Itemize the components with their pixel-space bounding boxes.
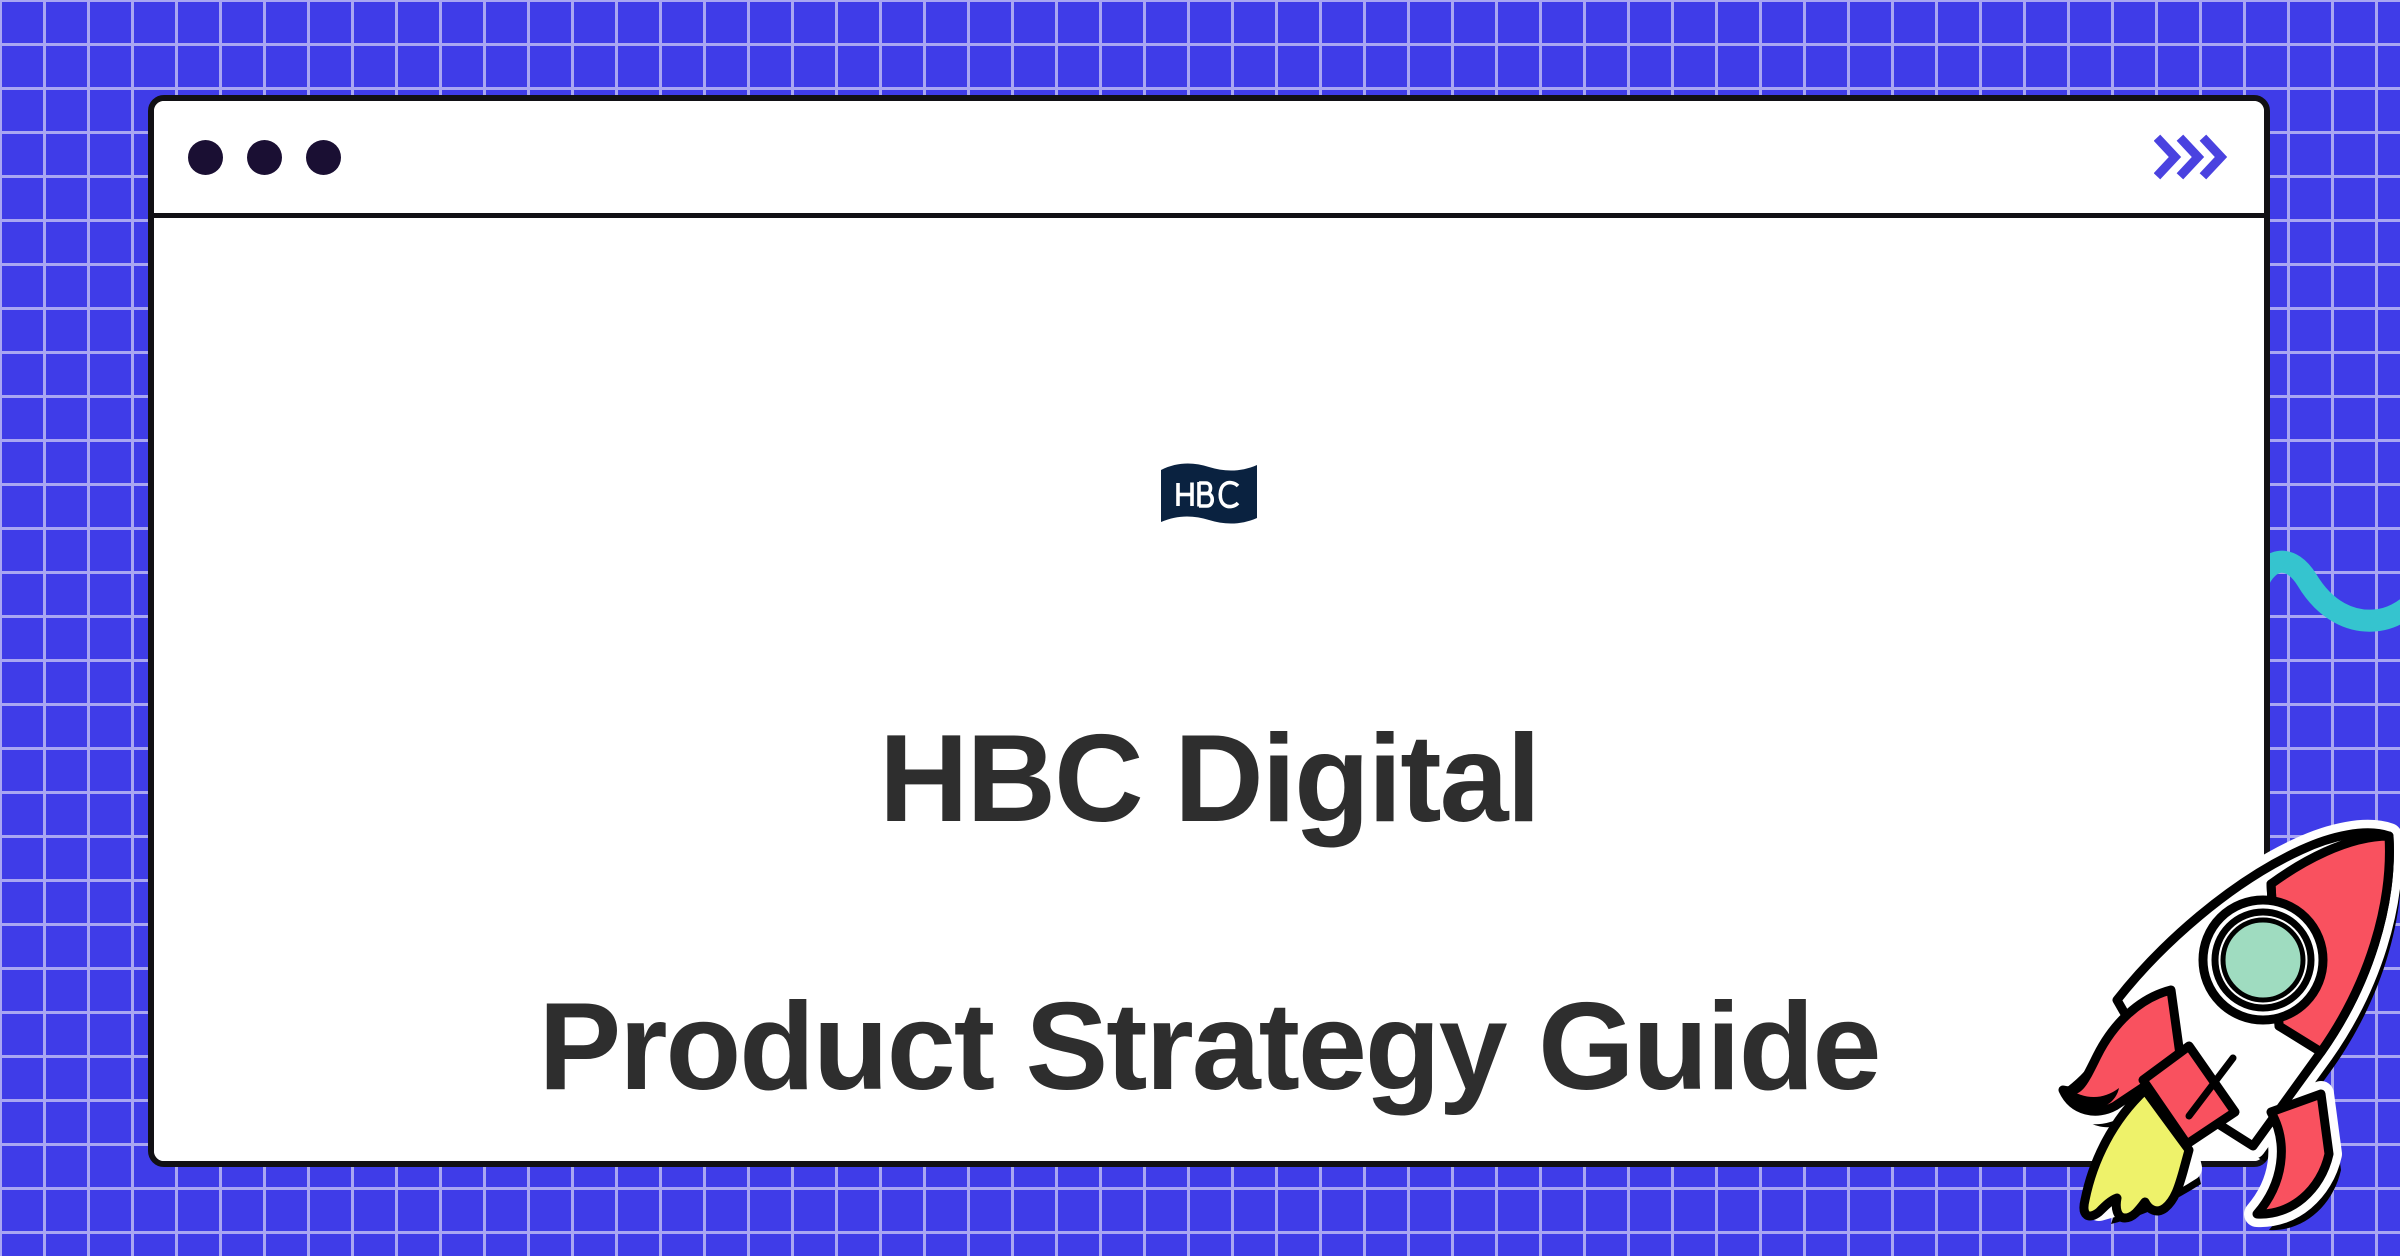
chevrons-right-icon[interactable] [2154, 134, 2230, 180]
page-title-line-1: HBC Digital [154, 713, 2264, 847]
page-title-line-2: Product Strategy Guide [154, 981, 2264, 1115]
page-title: HBC Digital Product Strategy Guide [154, 579, 2264, 1167]
window-controls[interactable] [188, 140, 341, 175]
slide-content-area: HBC Digital Product Strategy Guide [154, 218, 2264, 1167]
hbc-flag-logo [1159, 461, 1259, 527]
browser-title-bar [154, 101, 2264, 218]
browser-window: HBC Digital Product Strategy Guide [148, 95, 2270, 1167]
maximize-dot[interactable] [306, 140, 341, 175]
close-dot[interactable] [188, 140, 223, 175]
minimize-dot[interactable] [247, 140, 282, 175]
